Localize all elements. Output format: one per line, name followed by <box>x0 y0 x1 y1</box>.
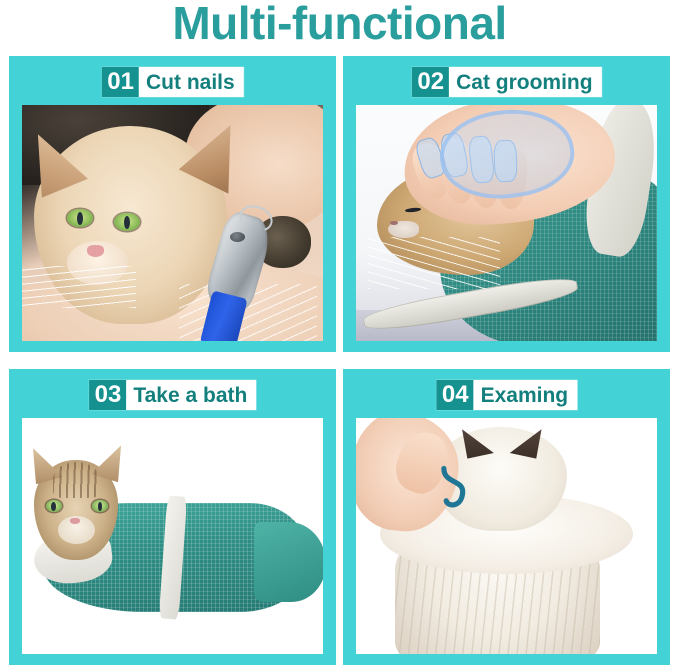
badge-label: Examing <box>474 380 578 410</box>
feature-panel-examing[interactable]: 04 Examing <box>343 369 670 665</box>
badge-number: 02 <box>411 67 449 97</box>
feature-grid: 01 Cut nails <box>9 56 670 665</box>
cat-ear-left <box>461 427 494 458</box>
cat-eye-right <box>114 213 140 231</box>
cat-head <box>34 460 118 559</box>
photo-cat-grooming <box>356 105 657 341</box>
page-title: Multi-functional <box>0 0 679 49</box>
badge-04: 04 Examing <box>436 380 577 410</box>
badge-01: 01 Cut nails <box>101 67 243 97</box>
cat-forehead-stripes <box>53 462 100 498</box>
feature-panel-take-a-bath[interactable]: 03 Take a bath <box>9 369 336 665</box>
photo-cut-nails <box>22 105 323 341</box>
cat-pupil-left <box>51 502 55 511</box>
cat-eye-left <box>67 209 93 227</box>
cat-eye <box>405 207 421 212</box>
photo-frame-examing <box>356 418 657 654</box>
photo-frame-take-a-bath <box>22 418 323 654</box>
cat-whiskers <box>368 237 500 289</box>
bag-tail-end <box>254 522 323 602</box>
badge-02: 02 Cat grooming <box>411 67 601 97</box>
cat-eye-left <box>46 500 62 512</box>
feature-panel-cut-nails[interactable]: 01 Cut nails <box>9 56 336 352</box>
cat-pupil-right <box>98 502 102 511</box>
badge-number: 01 <box>101 67 139 97</box>
cat-pupil-right <box>124 216 130 230</box>
badge-number: 04 <box>436 380 474 410</box>
badge-label: Cat grooming <box>449 67 602 97</box>
photo-take-a-bath <box>22 418 323 654</box>
feature-panel-cat-grooming[interactable]: 02 Cat grooming <box>343 56 670 352</box>
cat-eye-right <box>92 500 108 512</box>
badge-label: Take a bath <box>126 380 256 410</box>
photo-frame-cut-nails <box>22 105 323 341</box>
whiskers-left <box>22 266 136 308</box>
photo-frame-cat-grooming <box>356 105 657 341</box>
badge-03: 03 Take a bath <box>89 380 257 410</box>
badge-label: Cut nails <box>139 67 244 97</box>
photo-examing <box>356 418 657 654</box>
badge-number: 03 <box>89 380 127 410</box>
cat-pupil-left <box>77 212 83 226</box>
examining-tool-icon <box>434 465 479 517</box>
cat-ear-right <box>510 427 543 458</box>
